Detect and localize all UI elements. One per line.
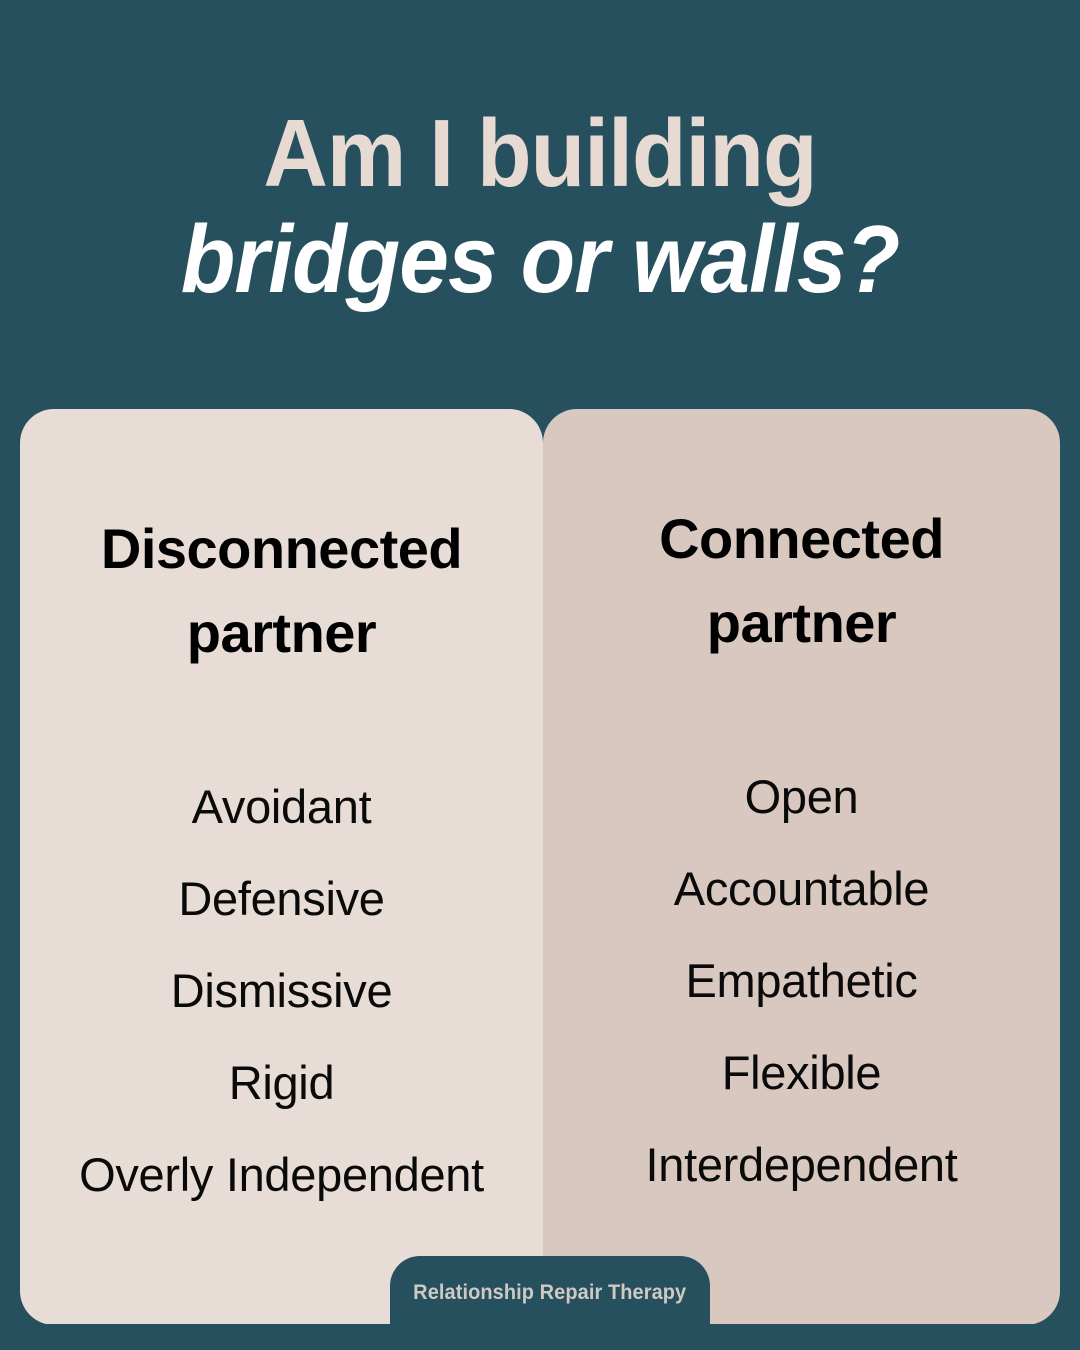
title-line-2: bridges or walls?	[38, 204, 1042, 316]
list-item: Accountable	[543, 843, 1060, 935]
poster-canvas: Am I building bridges or walls? Disconne…	[0, 0, 1080, 1350]
card-connected-partner: Connected partner Open Accountable Empat…	[543, 409, 1060, 1325]
list-item: Dismissive	[20, 945, 543, 1037]
title-line-1: Am I building	[38, 104, 1042, 204]
list-item: Flexible	[543, 1027, 1060, 1119]
list-item: Overly Independent	[20, 1129, 543, 1221]
card-heading-disconnected: Disconnected partner	[62, 507, 502, 675]
card-heading-connected: Connected partner	[582, 497, 1022, 665]
list-item: Avoidant	[20, 761, 543, 853]
list-item: Interdependent	[543, 1119, 1060, 1211]
list-item: Open	[543, 751, 1060, 843]
brand-badge-label: Relationship Repair Therapy	[413, 1281, 686, 1305]
trait-list-disconnected: Avoidant Defensive Dismissive Rigid Over…	[20, 761, 543, 1221]
list-item: Rigid	[20, 1037, 543, 1129]
list-item: Empathetic	[543, 935, 1060, 1027]
comparison-cards: Disconnected partner Avoidant Defensive …	[20, 409, 1060, 1325]
page-title: Am I building bridges or walls?	[0, 104, 1080, 316]
list-item: Defensive	[20, 853, 543, 945]
card-disconnected-partner: Disconnected partner Avoidant Defensive …	[20, 409, 543, 1325]
trait-list-connected: Open Accountable Empathetic Flexible Int…	[543, 751, 1060, 1211]
brand-badge: Relationship Repair Therapy	[390, 1256, 710, 1350]
